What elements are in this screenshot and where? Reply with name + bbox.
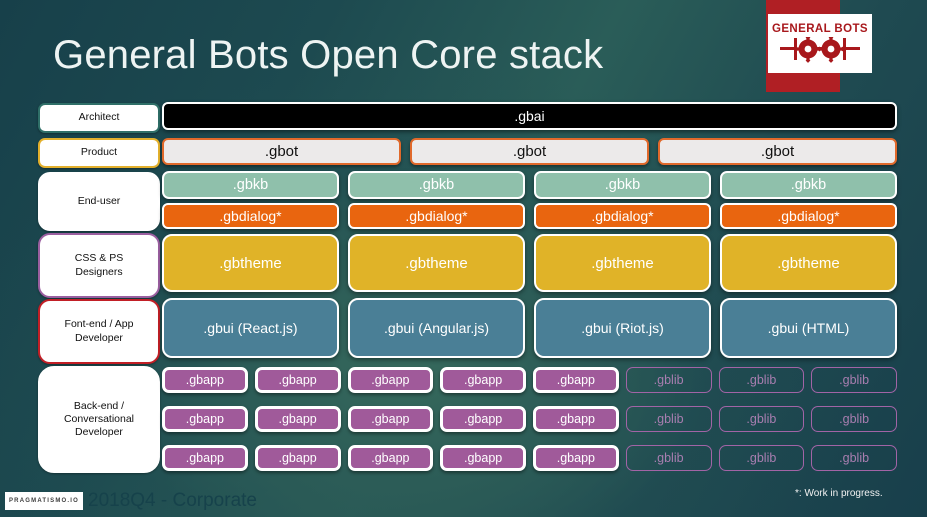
stack-box-label: .gbapp [557,451,595,465]
stack-box-gbapp[interactable]: .gbapp [533,406,619,432]
stack-box-label: .gblib [654,373,684,387]
stack-box-label: .gbdialog* [405,208,467,224]
role-label-wrap: CSS & PS Designers [75,252,123,278]
role-label-line3: Developer [75,426,123,438]
stack-box-gbot[interactable]: .gbot [410,138,649,165]
stack-box-label: .gbkb [419,177,454,193]
role-label-line2: Designers [75,266,122,278]
stack-box-gbapp[interactable]: .gbapp [162,367,248,393]
stack-box-label: .gbapp [371,373,409,387]
role-label-line2: Developer [75,332,123,344]
stack-box-label: .gbapp [557,373,595,387]
stack-box-label: .gblib [746,373,776,387]
stack-box-label: .gbdialog* [591,208,653,224]
stack-box-gblib[interactable]: .gblib [811,367,897,393]
stack-box-gbapp[interactable]: .gbapp [162,445,248,471]
stack-box-label: .gbtheme [591,255,654,272]
stack-box-gbai[interactable]: .gbai [162,102,897,130]
stack-box-gbapp[interactable]: .gbapp [348,406,434,432]
page-title: General Bots Open Core stack [53,33,603,78]
stack-box-gbapp[interactable]: .gbapp [255,445,341,471]
stack-box-gbapp[interactable]: .gbapp [348,367,434,393]
gears-icon [778,37,862,63]
stack-box-label: .gbdialog* [777,208,839,224]
stack-box-gbkb[interactable]: .gbkb [720,171,897,199]
role-product[interactable]: Product [38,138,160,168]
role-label-line1: Font-end / App [65,318,134,330]
pragmatismo-label: PRAGMATISMO.IO [9,498,79,504]
stack-box-label: .gbapp [186,373,224,387]
stack-box-label: .gblib [654,412,684,426]
stack-box-gbui[interactable]: .gbui (Riot.js) [534,298,711,358]
stack-box-gbdialog[interactable]: .gbdialog* [720,203,897,229]
stack-box-label: .gbapp [279,412,317,426]
role-label-line2: Conversational [64,413,134,425]
stack-box-label: .gbui (Angular.js) [384,320,489,336]
stack-box-gbui[interactable]: .gbui (Angular.js) [348,298,525,358]
role-label-wrap: Back-end / Conversational Developer [64,400,134,439]
stack-box-gbdialog[interactable]: .gbdialog* [162,203,339,229]
stack-box-gbkb[interactable]: .gbkb [162,171,339,199]
role-end-user[interactable]: End-user [38,172,160,231]
stack-box-label: .gbot [761,143,794,160]
role-architect[interactable]: Architect [38,103,160,133]
stack-box-label: .gblib [746,412,776,426]
stack-box-label: .gbapp [279,373,317,387]
stack-box-gblib[interactable]: .gblib [719,406,805,432]
stack-box-gbdialog[interactable]: .gbdialog* [534,203,711,229]
role-label: Architect [79,111,120,124]
stack-box-label: .gbot [265,143,298,160]
slide-canvas: General Bots Open Core stack GENERAL BOT… [0,0,927,517]
stack-box-label: .gbapp [279,451,317,465]
stack-box-gbkb[interactable]: .gbkb [348,171,525,199]
logo-wordmark: GENERAL BOTS [772,24,868,36]
stack-box-gblib[interactable]: .gblib [811,406,897,432]
stack-box-label: .gbapp [464,373,502,387]
stack-box-label: .gbapp [186,412,224,426]
stack-box-label: .gblib [839,412,869,426]
stack-box-gbui[interactable]: .gbui (React.js) [162,298,339,358]
role-back-end-conversational-developer[interactable]: Back-end / Conversational Developer [38,366,160,473]
stack-box-gblib[interactable]: .gblib [626,367,712,393]
stack-box-label: .gbkb [233,177,268,193]
stack-box-label: .gbui (HTML) [768,320,850,336]
stack-box-gbtheme[interactable]: .gbtheme [534,234,711,292]
stack-box-gblib[interactable]: .gblib [719,367,805,393]
stack-box-label: .gbai [514,108,544,124]
stack-box-label: .gbtheme [777,255,840,272]
role-label: Product [81,146,117,159]
role-label: End-user [78,195,121,208]
stack-box-label: .gbapp [371,451,409,465]
stack-box-gbapp[interactable]: .gbapp [533,367,619,393]
stack-box-gblib[interactable]: .gblib [719,445,805,471]
stack-box-gblib[interactable]: .gblib [626,445,712,471]
stack-box-gbapp[interactable]: .gbapp [440,367,526,393]
stack-box-gblib[interactable]: .gblib [626,406,712,432]
stack-box-label: .gbkb [791,177,826,193]
stack-box-label: .gbapp [557,412,595,426]
stack-box-gbtheme[interactable]: .gbtheme [348,234,525,292]
stack-box-gbot[interactable]: .gbot [658,138,897,165]
stack-box-gbdialog[interactable]: .gbdialog* [348,203,525,229]
role-label-wrap: Font-end / App Developer [65,318,134,344]
stack-box-gbapp[interactable]: .gbapp [440,445,526,471]
role-front-end-app-developer[interactable]: Font-end / App Developer [38,299,160,364]
stack-box-label: .gbui (React.js) [203,320,297,336]
stack-box-gbapp[interactable]: .gbapp [348,445,434,471]
stack-box-gbtheme[interactable]: .gbtheme [720,234,897,292]
stack-box-label: .gbapp [464,451,502,465]
role-label-line1: Back-end / [74,400,124,412]
general-bots-logo: GENERAL BOTS [768,14,872,73]
stack-box-label: .gbot [513,143,546,160]
stack-box-gbkb[interactable]: .gbkb [534,171,711,199]
stack-box-gbapp[interactable]: .gbapp [533,445,619,471]
stack-box-gbapp[interactable]: .gbapp [440,406,526,432]
stack-box-label: .gbkb [605,177,640,193]
stack-box-label: .gbapp [186,451,224,465]
role-css-ps-designers[interactable]: CSS & PS Designers [38,233,160,298]
stack-box-label: .gbapp [371,412,409,426]
stack-box-label: .gblib [654,451,684,465]
role-label-line1: CSS & PS [75,252,123,264]
stack-box-gbapp[interactable]: .gbapp [162,406,248,432]
footnote-work-in-progress: *: Work in progress. [795,488,883,499]
stack-box-gbapp[interactable]: .gbapp [255,406,341,432]
stack-box-gbui[interactable]: .gbui (HTML) [720,298,897,358]
stack-box-label: .gbtheme [219,255,282,272]
stack-box-gbot[interactable]: .gbot [162,138,401,165]
stack-box-label: .gblib [746,451,776,465]
stack-box-gbapp[interactable]: .gbapp [255,367,341,393]
stack-box-gblib[interactable]: .gblib [811,445,897,471]
stack-box-label: .gbui (Riot.js) [581,320,663,336]
stack-box-label: .gbtheme [405,255,468,272]
stack-box-gbtheme[interactable]: .gbtheme [162,234,339,292]
footer-label: 2018Q4 - Corporate [88,490,257,512]
stack-box-label: .gblib [839,451,869,465]
stack-box-label: .gbapp [464,412,502,426]
stack-box-label: .gblib [839,373,869,387]
pragmatismo-logo: PRAGMATISMO.IO [5,492,83,510]
stack-box-label: .gbdialog* [219,208,281,224]
